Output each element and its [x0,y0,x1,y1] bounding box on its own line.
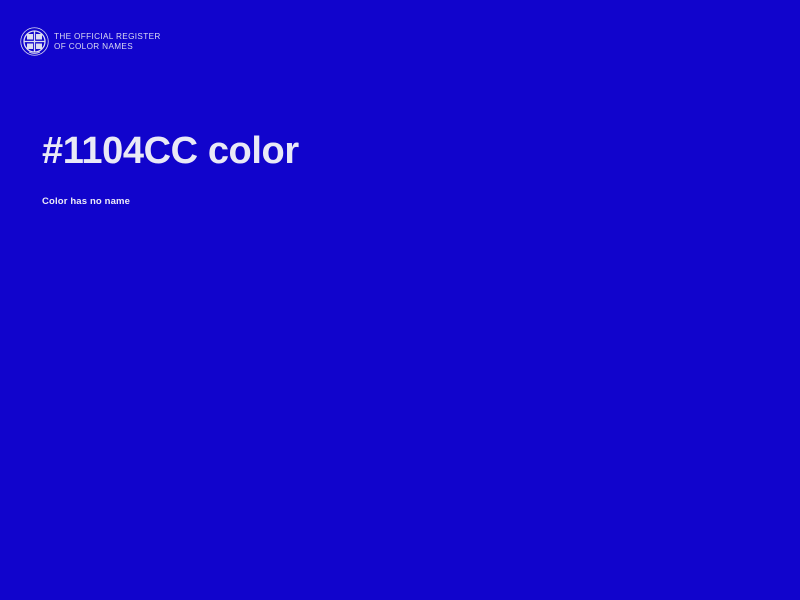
brand-line-1: THE OFFICIAL REGISTER [54,32,161,43]
page-title: #1104CC color [42,128,742,174]
brand-line-2: OF COLOR NAMES [54,42,161,53]
brand-name: THE OFFICIAL REGISTER OF COLOR NAMES [54,31,161,53]
brand-lockup[interactable]: THE OFFICIAL REGISTER OF COLOR NAMES [20,27,161,56]
color-info: #1104CC color Color has no name [42,128,742,208]
color-page: THE OFFICIAL REGISTER OF COLOR NAMES #11… [0,0,800,600]
color-name-status: Color has no name [42,174,742,208]
register-seal-icon [20,27,49,56]
